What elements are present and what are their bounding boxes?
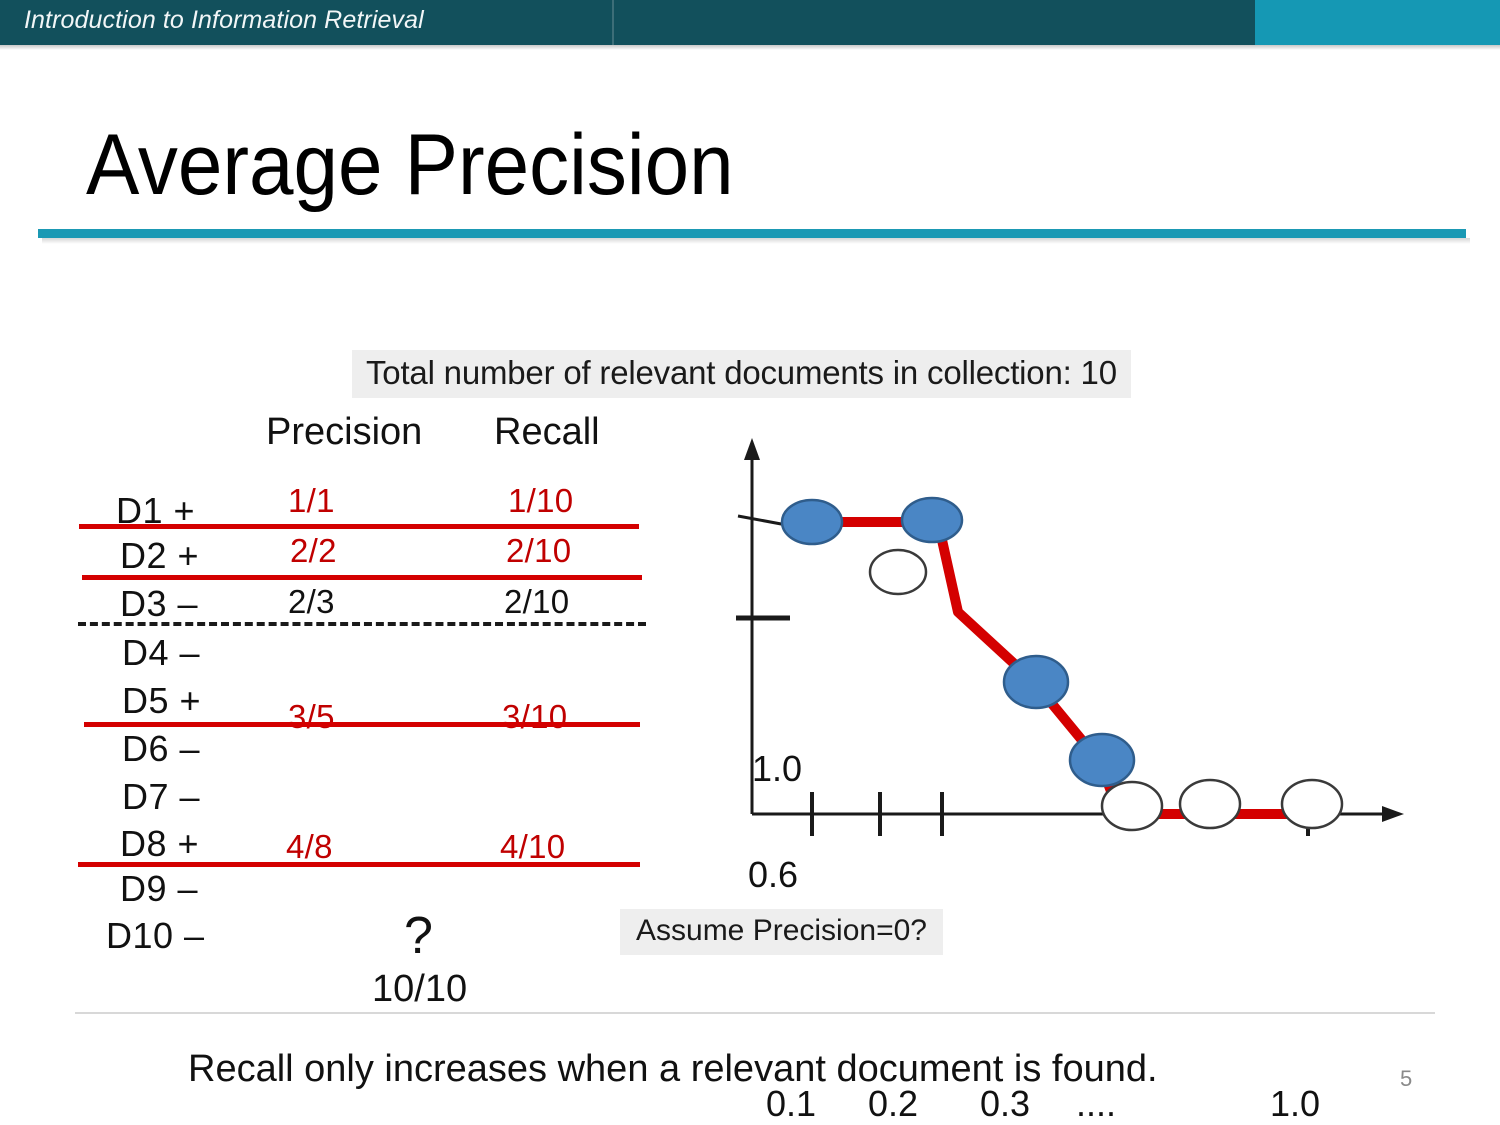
y-axis-arrowhead (744, 438, 760, 460)
recall-value-d1: 1/10 (508, 482, 573, 520)
figure-container: Total number of relevant documents in co… (0, 250, 1500, 1012)
assume-precision-note: Assume Precision=0? (620, 909, 943, 955)
chart-point-hollow-4 (1282, 780, 1342, 828)
row-rule-d3 (78, 622, 646, 626)
footer-divider (75, 1012, 1435, 1014)
precision-value-d8: 4/8 (286, 828, 333, 866)
doc-label-d8: D8 + (120, 823, 199, 865)
page-number: 5 (1400, 1066, 1412, 1092)
row-rule-d1 (79, 524, 639, 529)
doc-label-d6: D6 – (122, 728, 200, 770)
doc-label-d2: D2 + (120, 535, 199, 577)
recall-value-d8: 4/10 (500, 828, 565, 866)
chart-point-filled-3 (1004, 656, 1068, 708)
title-rule (38, 229, 1466, 238)
doc-label-d10: D10 – (106, 915, 205, 957)
unknown-precision-marker: ? (404, 906, 433, 966)
chart-point-hollow-2 (1102, 782, 1162, 830)
chart-point-filled-1 (782, 500, 842, 544)
recall-value-d5: 3/10 (502, 698, 567, 736)
x-axis-arrowhead (1382, 806, 1404, 822)
chart-svg (720, 430, 1420, 900)
chart-point-filled-2 (902, 498, 962, 542)
doc-label-d9: D9 – (120, 868, 198, 910)
doc-label-d4: D4 – (122, 632, 200, 674)
row-rule-d8 (78, 862, 640, 867)
precision-value-d2: 2/2 (290, 532, 337, 570)
y-tick-label-0.6: 0.6 (748, 854, 798, 896)
y-tick-label-1.0: 1.0 (752, 748, 802, 790)
title-rule-shadow (42, 238, 1470, 244)
doc-label-d5: D5 + (122, 680, 201, 722)
chart-point-filled-4 (1070, 734, 1134, 786)
page-title: Average Precision (86, 122, 734, 208)
total-recall-fraction: 10/10 (372, 968, 467, 1011)
column-header-recall: Recall (494, 411, 600, 454)
course-title: Introduction to Information Retrieval (24, 6, 424, 35)
header-band-accent (1255, 0, 1500, 45)
total-relevant-note: Total number of relevant documents in co… (352, 350, 1131, 398)
precision-recall-chart (720, 430, 1420, 900)
header-band: Introduction to Information Retrieval (0, 0, 1500, 45)
header-shadow (0, 45, 1500, 50)
recall-value-d3: 2/10 (504, 583, 569, 621)
x-tick-label-1.0: 1.0 (1270, 1083, 1320, 1125)
row-rule-d5 (84, 722, 640, 727)
header-band-divider (612, 0, 614, 45)
doc-label-d3: D3 – (120, 583, 198, 625)
precision-value-d3: 2/3 (288, 583, 335, 621)
chart-point-hollow-1 (870, 550, 926, 594)
row-rule-d2 (82, 575, 642, 580)
precision-value-d1: 1/1 (288, 482, 335, 520)
doc-label-d7: D7 – (122, 776, 200, 818)
precision-value-d5: 3/5 (288, 698, 335, 736)
recall-value-d2: 2/10 (506, 532, 571, 570)
column-header-precision: Precision (266, 411, 422, 454)
chart-point-hollow-3 (1180, 780, 1240, 828)
slide-caption: Recall only increases when a relevant do… (188, 1048, 1158, 1091)
